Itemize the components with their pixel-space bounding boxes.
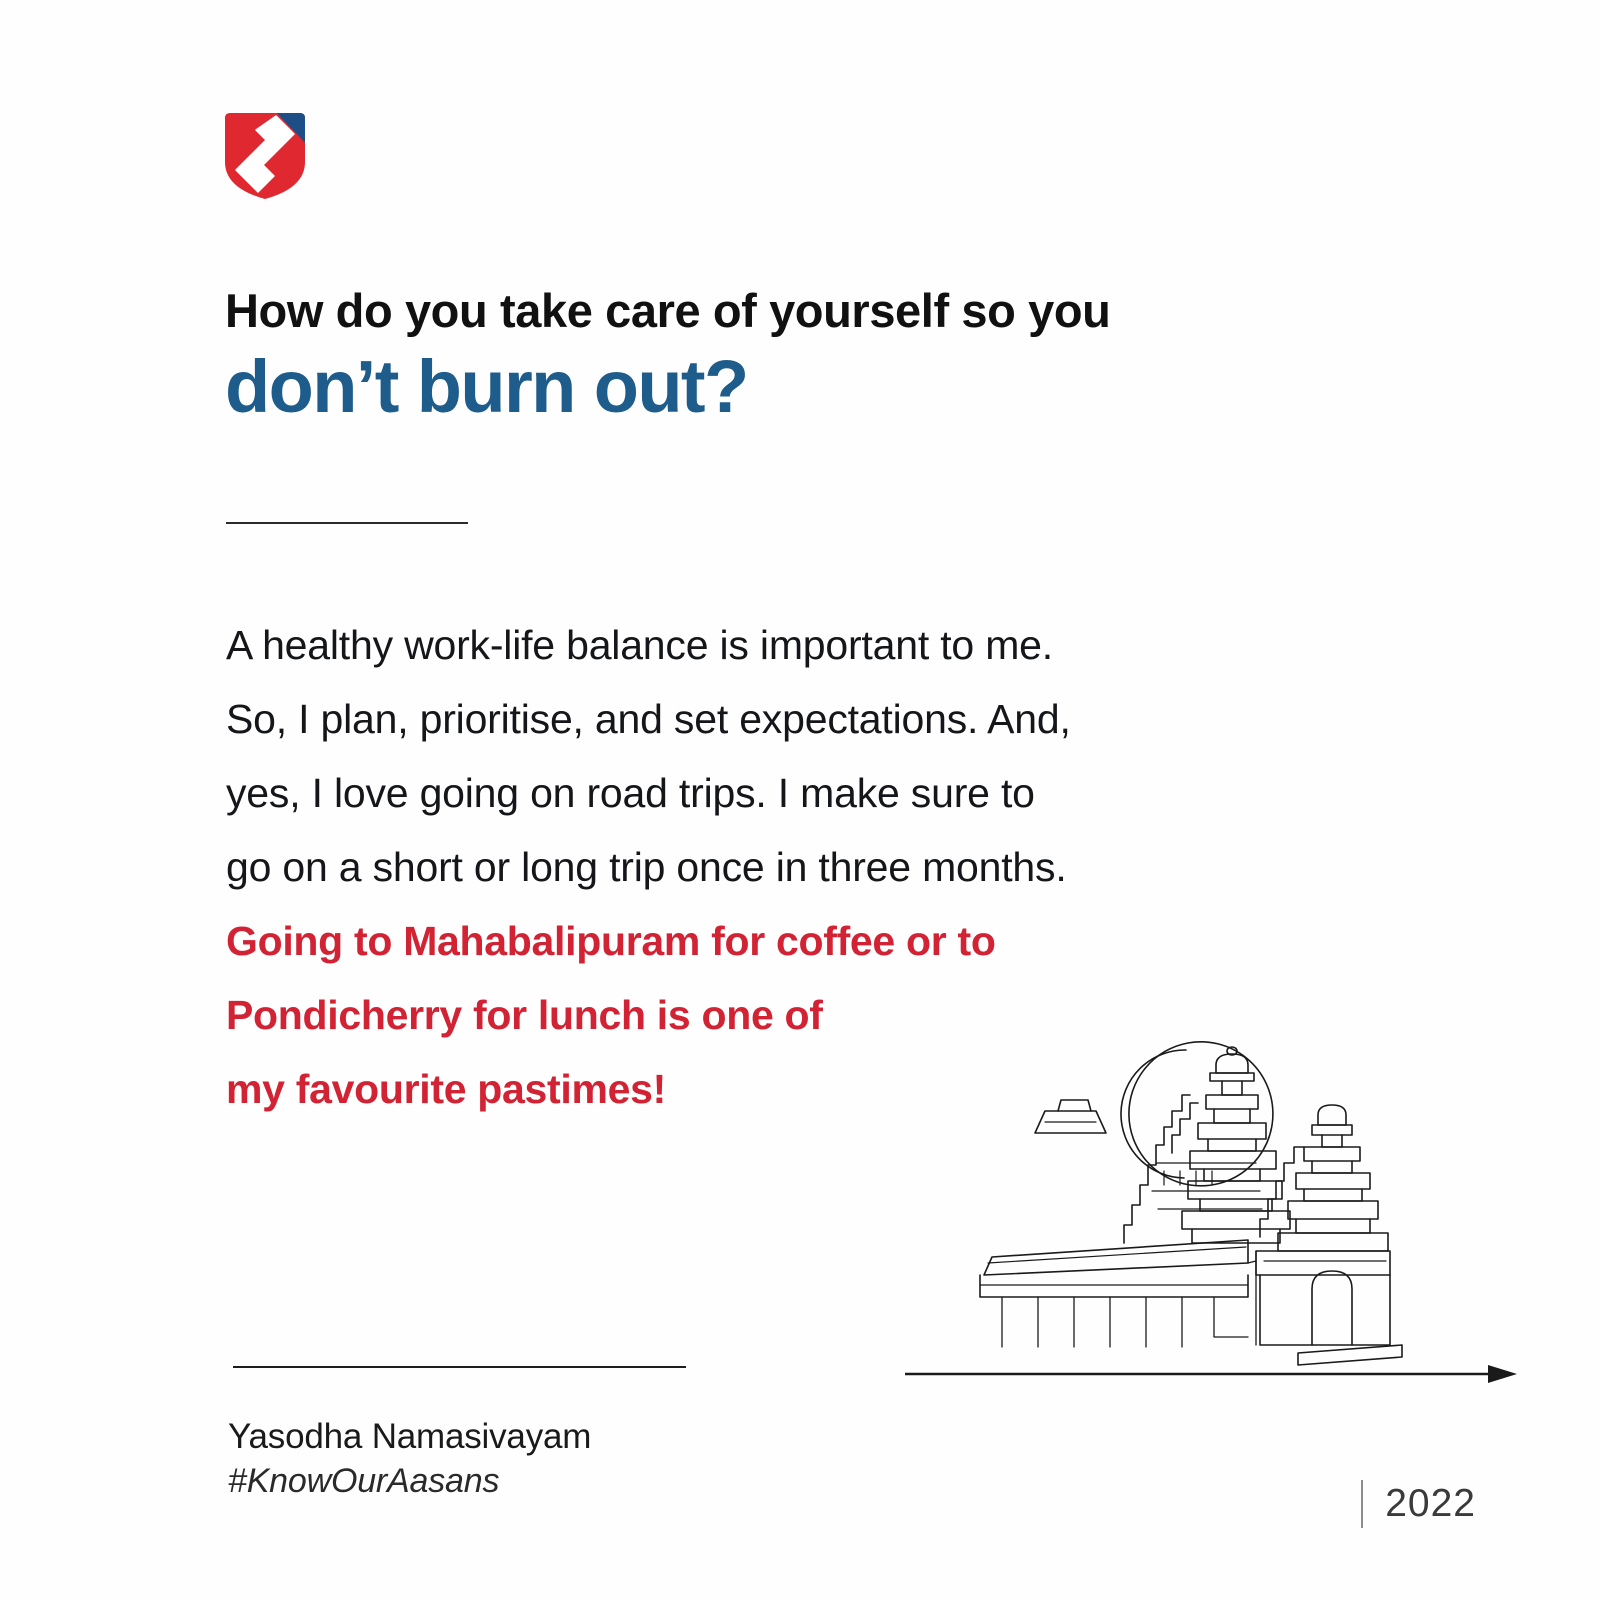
author-name: Yasodha Namasivayam [228,1415,591,1460]
hashtag[interactable]: #KnowOurAasans [228,1460,591,1504]
year-block: 2022 [1361,1480,1476,1528]
body-line-emphasis: Going to Mahabalipuram for coffee or to [226,904,1286,978]
credit-block: Yasodha Namasivayam #KnowOurAasans [228,1415,591,1503]
body-line: yes, I love going on road trips. I make … [226,756,1286,830]
headline-divider [226,522,468,524]
right-arrow-icon [905,1352,1525,1384]
headline: How do you take care of yourself so you … [225,286,1345,429]
shield-logo-icon[interactable] [222,110,308,202]
social-card: How do you take care of yourself so you … [0,0,1600,1600]
year-label: 2022 [1385,1482,1476,1526]
body-line: So, I plan, prioritise, and set expectat… [226,682,1286,756]
body-line: go on a short or long trip once in three… [226,830,1286,904]
footer-divider-left [233,1366,686,1368]
headline-line-2: don’t burn out? [225,346,1345,429]
mahabalipuram-temple-illustration [960,985,1430,1385]
body-line: A healthy work-life balance is important… [226,608,1286,682]
year-divider [1361,1480,1363,1528]
headline-line-1: How do you take care of yourself so you [225,286,1345,336]
